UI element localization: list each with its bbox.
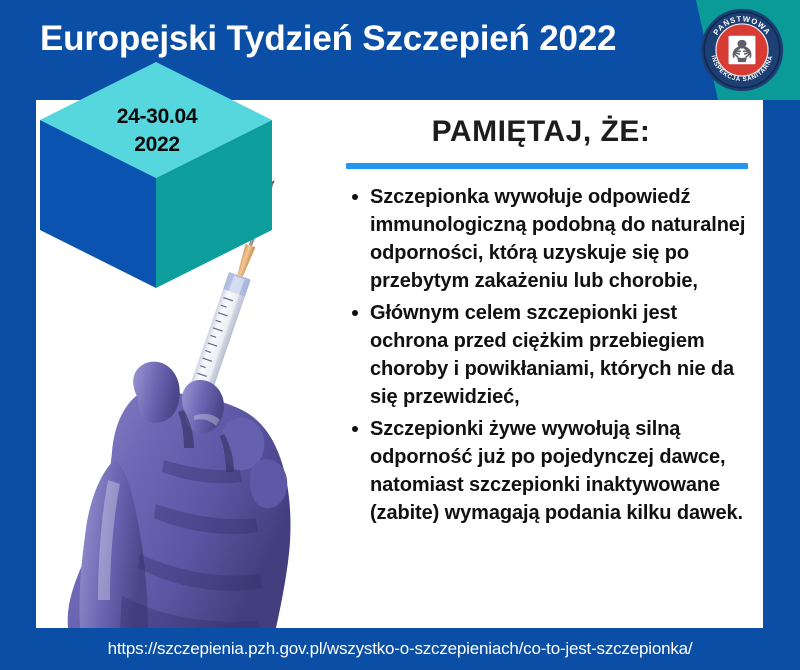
poster-header: Europejski Tydzień Szczepień 2022 PAŃSTW… xyxy=(0,0,800,100)
panstwowa-inspekcja-sanitarna-seal-icon: PAŃSTWOWA INSPEKCJA SANITARNA xyxy=(700,8,784,92)
source-url-link[interactable]: https://szczepienia.pzh.gov.pl/wszystko-… xyxy=(0,628,800,670)
text-column: PAMIĘTAJ, ŻE: Szczepionka wywołuje odpow… xyxy=(326,108,756,531)
poster-footer: https://szczepienia.pzh.gov.pl/wszystko-… xyxy=(0,628,800,670)
poster-root: Europejski Tydzień Szczepień 2022 PAŃSTW… xyxy=(0,0,800,670)
headline: PAMIĘTAJ, ŻE: xyxy=(326,108,756,150)
cube-date-label: 24-30.04 2022 xyxy=(82,103,232,159)
list-item: Szczepionki żywe wywołują silną odpornoś… xyxy=(352,415,756,527)
facts-list: Szczepionka wywołuje odpowiedź immunolog… xyxy=(326,183,756,527)
list-item: Szczepionka wywołuje odpowiedź immunolog… xyxy=(352,183,756,295)
accent-divider xyxy=(346,163,748,169)
content-card: PAMIĘTAJ, ŻE: Szczepionka wywołuje odpow… xyxy=(36,100,763,628)
list-item: Głównym celem szczepionki jest ochrona p… xyxy=(352,299,756,411)
cube-date-range: 24-30.04 xyxy=(82,103,232,131)
page-title: Europejski Tydzień Szczepień 2022 xyxy=(40,17,616,61)
cube-year: 2022 xyxy=(82,131,232,159)
